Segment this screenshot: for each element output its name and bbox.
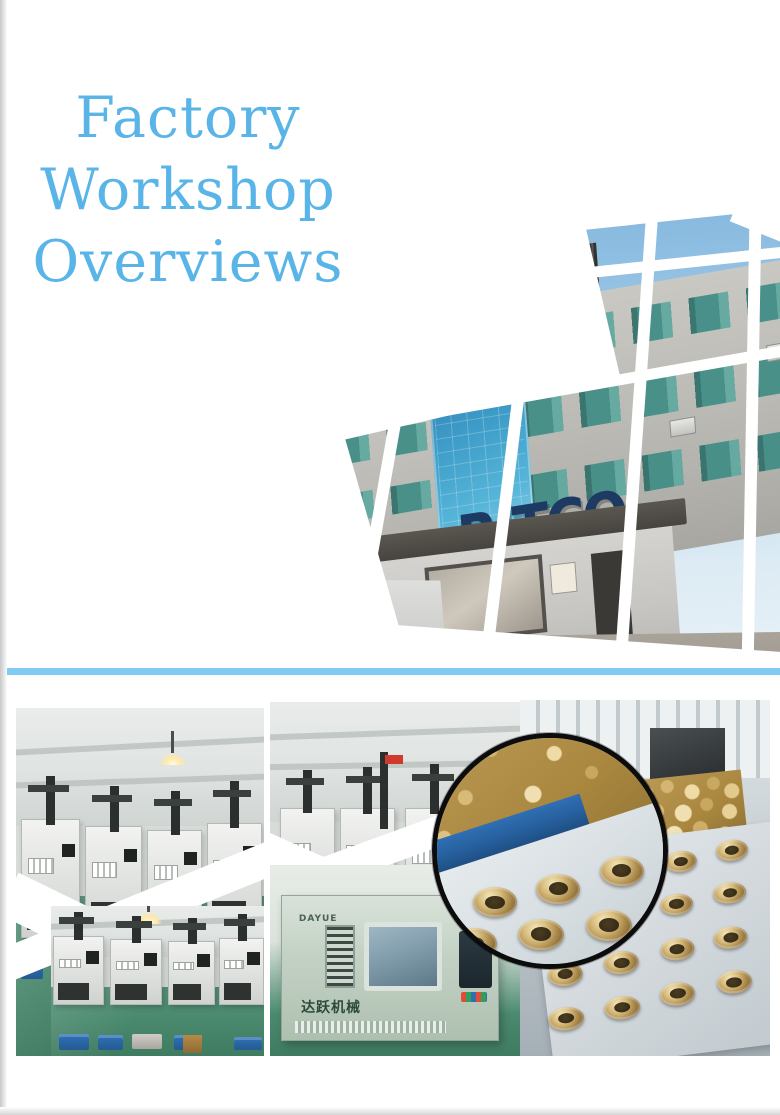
red-indicator <box>385 755 403 764</box>
wooden-stool <box>183 1035 202 1053</box>
lathe-buttons <box>461 992 487 1002</box>
parts-cart <box>132 1034 162 1049</box>
page-edge-shadow-left <box>0 0 7 1115</box>
workshop-cnc-hall-lower <box>51 906 264 1056</box>
gatehouse-door <box>591 550 634 646</box>
parts-bin <box>59 1034 89 1050</box>
cnc-machine <box>53 936 104 1005</box>
page-title: Factory Workshop Overviews <box>18 82 358 298</box>
lathe-brand-text: 达跃机械 <box>301 997 361 1017</box>
page-root: Factory Workshop Overviews <box>0 0 780 1115</box>
cnc-machine <box>110 939 161 1005</box>
brass-parts-magnifier-inset <box>432 733 668 969</box>
ceiling-lamp <box>160 753 186 765</box>
lathe-viewing-window <box>364 922 442 991</box>
ac-unit <box>669 416 696 437</box>
gallery-panel-left <box>16 708 264 1056</box>
title-line-1: Factory <box>18 82 358 154</box>
title-line-2: Workshop <box>18 154 358 226</box>
cnc-machine <box>219 938 264 1005</box>
lathe-vent-grille <box>295 1021 446 1032</box>
lathe-logo: DAYUE <box>299 914 338 924</box>
section-divider <box>0 668 780 675</box>
gallery-row: DAYUE 达跃机械 <box>0 700 780 1060</box>
ac-unit <box>766 341 780 362</box>
parts-bin <box>234 1037 262 1050</box>
page-edge-shadow-bottom <box>0 1107 780 1115</box>
lathe-control-strip <box>325 925 355 988</box>
gatehouse-sign-plate <box>550 562 578 595</box>
title-line-3: Overviews <box>18 226 358 298</box>
parts-bin <box>98 1035 124 1050</box>
cnc-machine <box>168 941 215 1005</box>
